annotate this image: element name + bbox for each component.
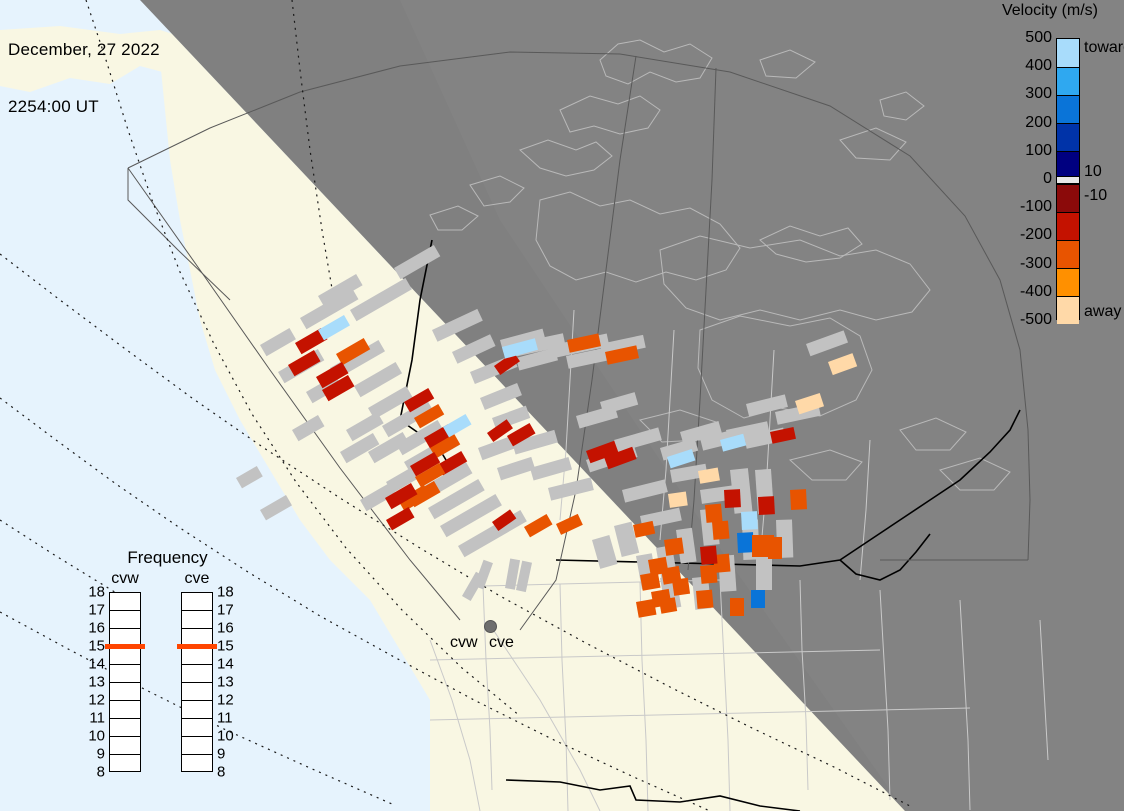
colorbar-tick: 400 bbox=[1025, 57, 1052, 75]
colorbar-segment bbox=[1057, 151, 1079, 176]
colorbar-tick: 200 bbox=[1025, 114, 1052, 132]
colorbar-away-label: away bbox=[1084, 303, 1121, 321]
frequency-tick: 16 bbox=[217, 620, 234, 637]
colorbar-tick: 300 bbox=[1025, 85, 1052, 103]
velocity-cell[interactable] bbox=[700, 546, 718, 565]
colorbar-tick-labels: 5004003002001000-100-200-300-400-500 bbox=[990, 0, 1052, 330]
frequency-tick: 8 bbox=[97, 764, 105, 781]
colorbar-segment bbox=[1057, 240, 1079, 268]
radar-velocity-map: December, 27 2022 2254:00 UT Velocity (m… bbox=[0, 0, 1124, 811]
timestamp-date: December, 27 2022 bbox=[8, 40, 160, 59]
frequency-tick: 17 bbox=[217, 602, 234, 619]
velocity-cell[interactable] bbox=[705, 504, 723, 523]
velocity-cell[interactable] bbox=[741, 511, 758, 530]
colorbar-tick: -400 bbox=[1020, 283, 1052, 301]
frequency-tick: 18 bbox=[88, 584, 105, 601]
frequency-legend-title: Frequency bbox=[95, 548, 240, 568]
frequency-marker bbox=[105, 644, 145, 649]
colorbar-tick: 0 bbox=[1043, 170, 1052, 188]
colorbar-side-labels: toward10-10away bbox=[1084, 0, 1124, 330]
colorbar-segment bbox=[1057, 212, 1079, 240]
frequency-tick: 9 bbox=[97, 746, 105, 763]
colorbar-segment bbox=[1057, 184, 1079, 212]
velocity-cell[interactable] bbox=[672, 578, 690, 596]
velocity-cell[interactable] bbox=[636, 599, 657, 618]
colorbar-neg-threshold: -10 bbox=[1084, 187, 1107, 205]
frequency-column-cvw: cvw18171615141312111098 bbox=[95, 570, 155, 780]
site-label-cvw: cvw bbox=[450, 634, 478, 652]
colorbar-pos-threshold: 10 bbox=[1084, 163, 1102, 181]
frequency-tick: 18 bbox=[217, 584, 234, 601]
colorbar-tick: -200 bbox=[1020, 226, 1052, 244]
colorbar-toward-label: toward bbox=[1084, 39, 1124, 57]
colorbar-segment bbox=[1057, 123, 1079, 151]
velocity-cell[interactable] bbox=[758, 496, 775, 515]
frequency-tick: 9 bbox=[217, 746, 225, 763]
timestamp-time: 2254:00 UT bbox=[8, 97, 160, 116]
colorbar-segment bbox=[1057, 296, 1079, 324]
velocity-cell[interactable] bbox=[659, 597, 677, 614]
colorbar-tick: 100 bbox=[1025, 142, 1052, 160]
frequency-tick: 14 bbox=[217, 656, 234, 673]
colorbar-tick: -500 bbox=[1020, 311, 1052, 329]
velocity-cell[interactable] bbox=[724, 489, 741, 508]
radar-site-marker[interactable] bbox=[484, 620, 497, 633]
frequency-tick: 15 bbox=[88, 638, 105, 655]
velocity-cell[interactable] bbox=[790, 489, 807, 510]
frequency-tick: 13 bbox=[88, 674, 105, 691]
colorbar-tick: -100 bbox=[1020, 198, 1052, 216]
velocity-cell[interactable] bbox=[668, 491, 688, 507]
velocity-cell[interactable] bbox=[640, 572, 661, 591]
timestamp: December, 27 2022 2254:00 UT bbox=[8, 2, 160, 154]
frequency-tick: 8 bbox=[217, 764, 225, 781]
frequency-tick: 11 bbox=[89, 710, 105, 727]
frequency-tick: 13 bbox=[217, 674, 234, 691]
frequency-tick: 12 bbox=[217, 692, 234, 709]
velocity-cell[interactable] bbox=[664, 537, 684, 555]
site-label-cve: cve bbox=[489, 634, 514, 652]
frequency-tick: 17 bbox=[88, 602, 105, 619]
frequency-tick: 14 bbox=[88, 656, 105, 673]
colorbar-segment bbox=[1057, 39, 1079, 67]
frequency-tick: 10 bbox=[88, 728, 105, 745]
frequency-tick: 15 bbox=[217, 638, 234, 655]
colorbar-tick: -300 bbox=[1020, 255, 1052, 273]
frequency-tick: 12 bbox=[88, 692, 105, 709]
frequency-tick: 10 bbox=[217, 728, 234, 745]
colorbar-tick: 500 bbox=[1025, 29, 1052, 47]
colorbar-segment bbox=[1057, 67, 1079, 95]
velocity-cell[interactable] bbox=[712, 521, 730, 540]
colorbar-gradient bbox=[1056, 38, 1080, 320]
colorbar-zero-band bbox=[1057, 176, 1079, 184]
frequency-tick: 16 bbox=[88, 620, 105, 637]
velocity-cell[interactable] bbox=[730, 598, 744, 616]
frequency-column-cve: cve18171615141312111098 bbox=[167, 570, 227, 780]
velocity-cell[interactable] bbox=[751, 590, 765, 608]
velocity-cell[interactable] bbox=[768, 537, 782, 559]
frequency-marker bbox=[177, 644, 217, 649]
frequency-legend: Frequency cvw18171615141312111098cve1817… bbox=[95, 548, 240, 783]
colorbar-segment bbox=[1057, 268, 1079, 296]
frequency-tick: 11 bbox=[217, 710, 233, 727]
velocity-cell[interactable] bbox=[737, 532, 754, 553]
velocity-cell[interactable] bbox=[696, 590, 714, 609]
colorbar-segment bbox=[1057, 95, 1079, 123]
